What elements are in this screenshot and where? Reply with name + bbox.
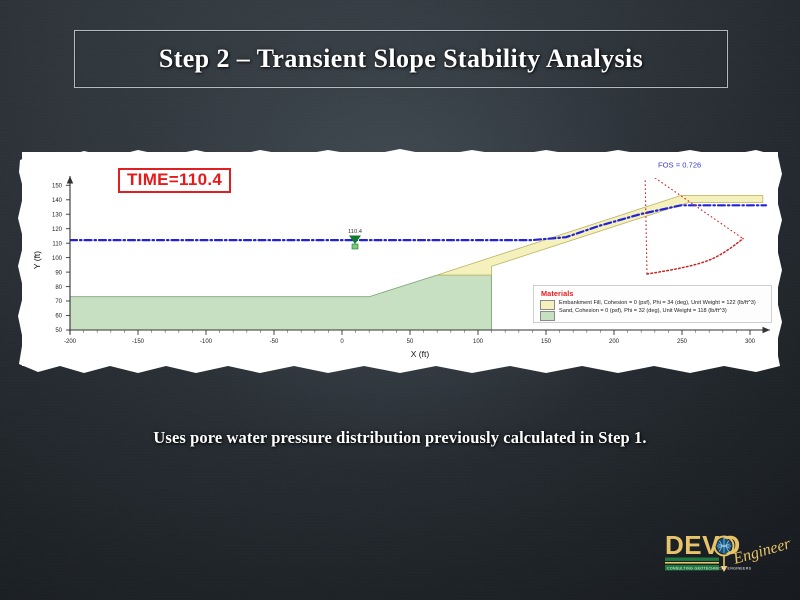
legend-title: Materials: [541, 289, 766, 298]
svg-text:90: 90: [55, 270, 62, 276]
x-axis-label: X (ft): [411, 349, 430, 359]
svg-text:50: 50: [55, 328, 62, 334]
time-badge: TIME=110.4: [118, 168, 231, 193]
page-title: Step 2 – Transient Slope Stability Analy…: [159, 44, 643, 74]
svg-text:60: 60: [55, 314, 62, 320]
slip-radius-left: [645, 171, 647, 274]
slide-caption: Uses pore water pressure distribution pr…: [0, 428, 800, 448]
y-axis-label: Y (ft): [32, 251, 42, 269]
legend-item-embankment-fill: Embankment Fill, Cohesion = 0 (psf), Phi…: [559, 300, 756, 306]
x-axis-ticks: -200 -150 -100 -50 0 50 100 150 200 250 …: [64, 330, 756, 345]
sand-layer: [70, 275, 492, 330]
materials-legend: Materials Embankment Fill, Cohesion = 0 …: [533, 285, 772, 323]
svg-text:50: 50: [407, 339, 414, 345]
legend-rows: Embankment Fill, Cohesion = 0 (psf), Phi…: [540, 300, 766, 321]
svg-text:-200: -200: [64, 339, 77, 345]
critical-slip-surface: [647, 239, 743, 274]
y-axis-ticks: 50 60 70 80 90 100 110 120 130 140 150: [52, 184, 70, 335]
slip-center-point: [643, 169, 646, 172]
svg-text:-50: -50: [270, 339, 279, 345]
svg-text:130: 130: [52, 212, 63, 218]
svg-text:100: 100: [52, 256, 63, 262]
fos-label: FOS = 0.726: [658, 161, 701, 170]
swatch-embankment-fill: [540, 300, 555, 310]
phreatic-surface-line: [70, 205, 766, 240]
svg-text:250: 250: [677, 339, 688, 345]
svg-text:100: 100: [473, 339, 484, 345]
svg-text:200: 200: [609, 339, 620, 345]
svg-text:140: 140: [52, 198, 63, 204]
swatch-sand: [540, 311, 555, 321]
embankment-fill-layer: [437, 195, 763, 275]
svg-text:110.4: 110.4: [348, 229, 363, 235]
svg-text:70: 70: [55, 299, 62, 305]
slide-canvas: Step 2 – Transient Slope Stability Analy…: [0, 0, 800, 600]
logo-green-bar-top: [665, 558, 719, 561]
svg-text:0: 0: [340, 339, 344, 345]
legend-swatches: [540, 300, 555, 321]
svg-text:150: 150: [52, 184, 63, 190]
title-frame: Step 2 – Transient Slope Stability Analy…: [74, 30, 728, 88]
devo-engineering-logo: DEVO CONSULTING GEOTECHNICAL ENGINEERS E…: [663, 524, 791, 586]
svg-text:120: 120: [52, 227, 63, 233]
svg-text:80: 80: [55, 285, 62, 291]
svg-text:150: 150: [541, 339, 552, 345]
svg-text:-150: -150: [132, 339, 145, 345]
svg-text:110: 110: [52, 241, 62, 247]
svg-text:-100: -100: [200, 339, 213, 345]
svg-text:300: 300: [745, 339, 756, 345]
logo-gold-bar: [665, 562, 719, 564]
legend-item-sand: Sand, Cohesion = 0 (psf), Phi = 32 (deg)…: [559, 308, 756, 314]
